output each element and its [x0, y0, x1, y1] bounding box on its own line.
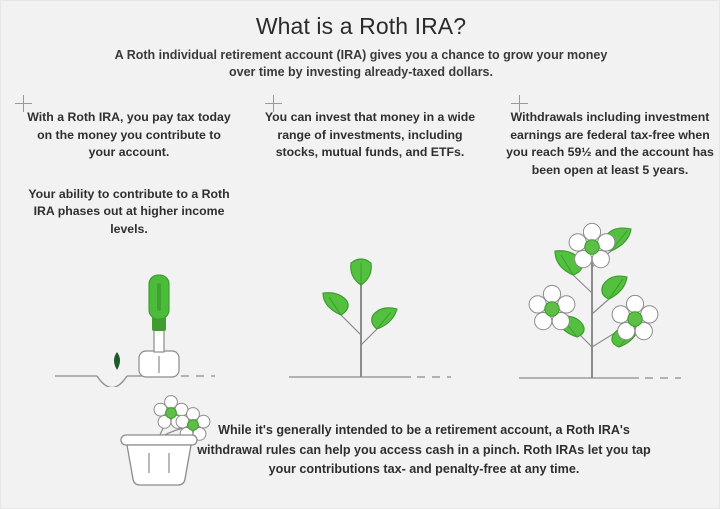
- column-one-paragraph-2: Your ability to contribute to a Roth IRA…: [23, 186, 235, 239]
- flowering-plant-icon: [519, 219, 704, 389]
- column-one: With a Roth IRA, you pay tax today on th…: [23, 109, 235, 238]
- flower-right: [612, 295, 658, 339]
- seed-and-trowel-illustration: [55, 257, 270, 392]
- column-three: Withdrawals including investment earning…: [504, 109, 716, 179]
- column-two-paragraph-1: You can invest that money in a wide rang…: [264, 109, 476, 162]
- flower-left: [529, 285, 575, 329]
- footer-text: While it's generally intended to be a re…: [187, 421, 661, 480]
- flowering-plant-illustration: [519, 219, 704, 394]
- flower-top: [569, 223, 615, 267]
- sprout-illustration: [289, 253, 479, 393]
- seed-and-trowel-icon: [55, 257, 270, 387]
- sprout-icon: [289, 253, 479, 388]
- column-three-paragraph-1: Withdrawals including investment earning…: [504, 109, 716, 179]
- page-subtitle: A Roth individual retirement account (IR…: [111, 47, 611, 81]
- column-one-paragraph-1: With a Roth IRA, you pay tax today on th…: [23, 109, 235, 162]
- infographic-root: What is a Roth IRA? A Roth individual re…: [0, 0, 720, 509]
- column-two: You can invest that money in a wide rang…: [264, 109, 476, 162]
- page-title: What is a Roth IRA?: [1, 13, 720, 40]
